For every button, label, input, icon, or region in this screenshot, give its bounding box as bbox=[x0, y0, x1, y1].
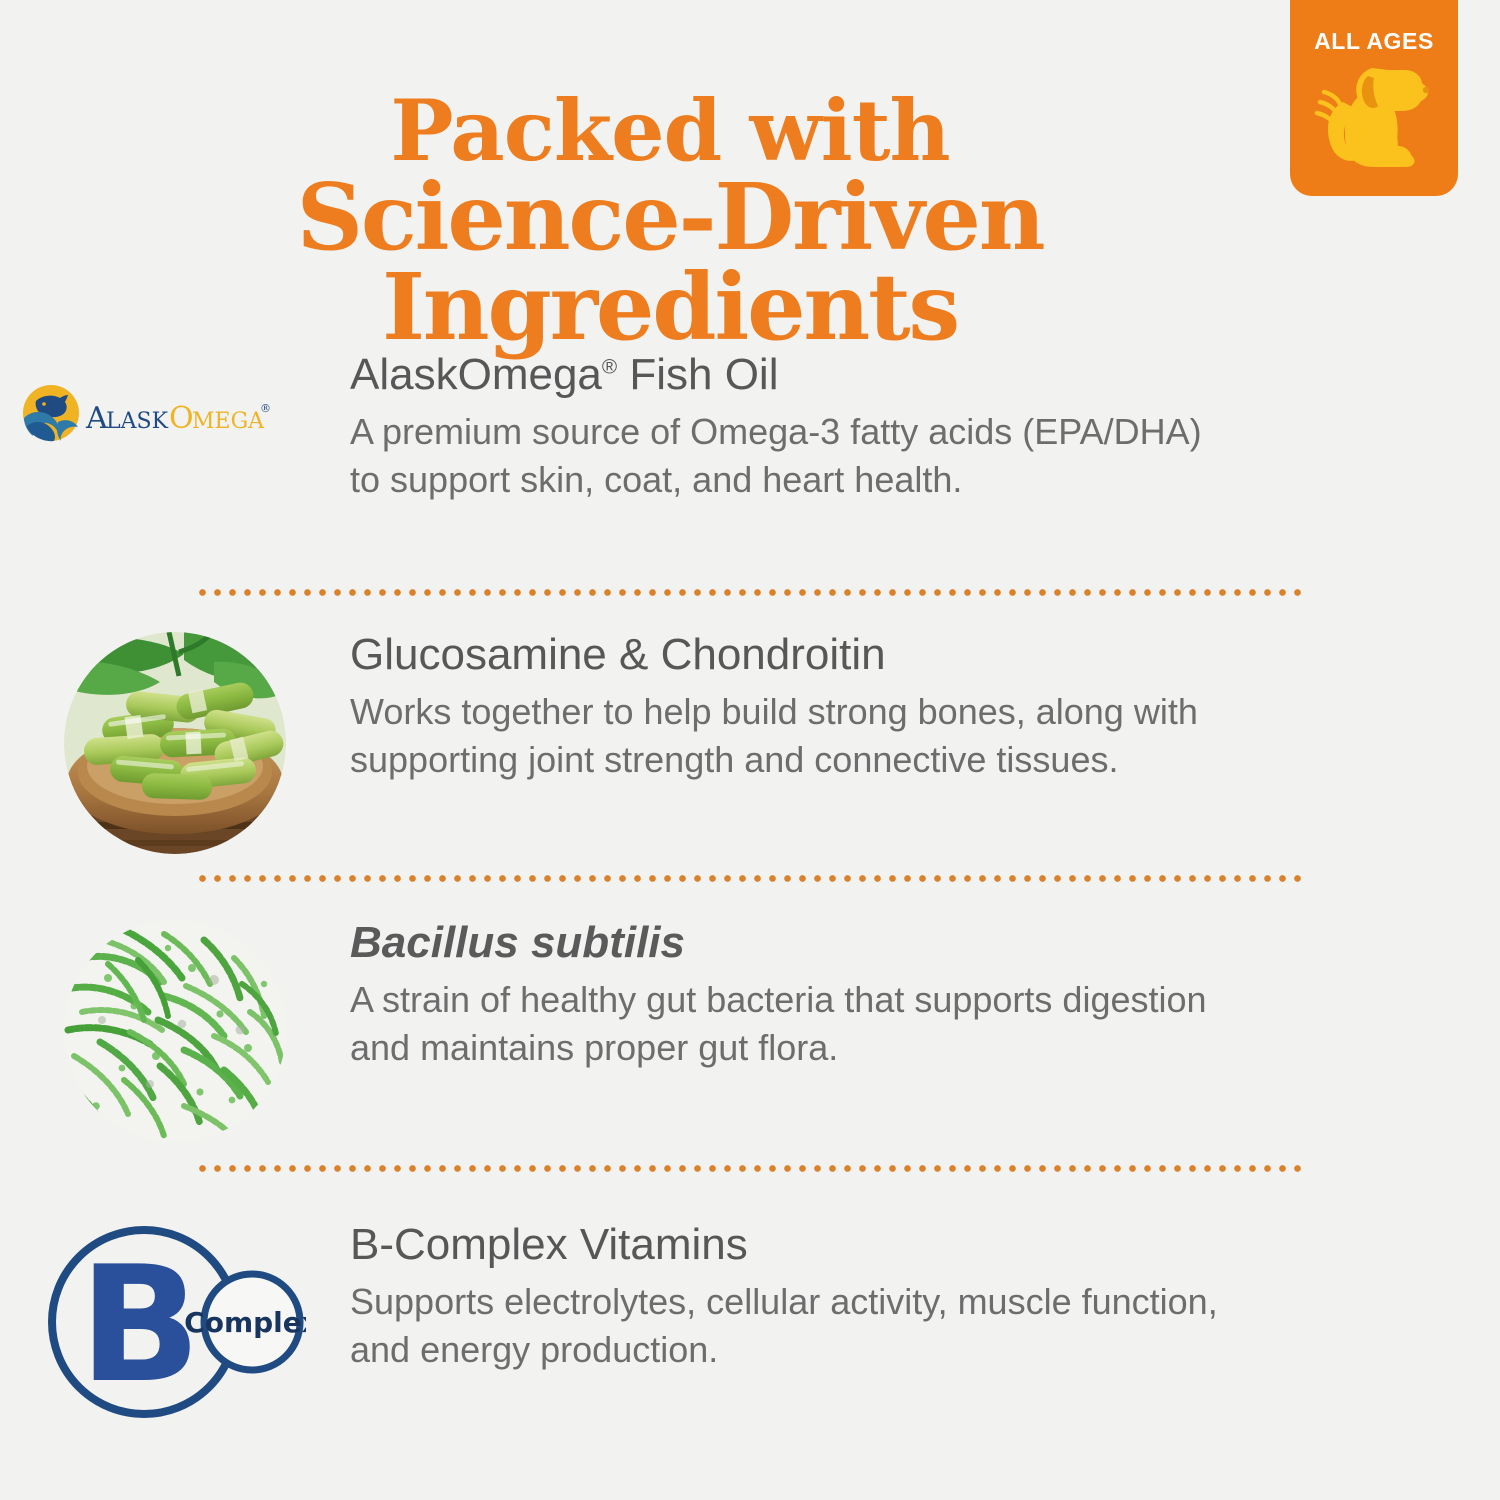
svg-text:LASK: LASK bbox=[106, 409, 169, 434]
ingredient-text-glucosamine: Glucosamine & Chondroitin Works together… bbox=[350, 632, 1500, 783]
alaskomega-logo: A LASK O MEGA ® bbox=[20, 382, 330, 444]
headline-line-1: Packed with bbox=[0, 90, 1340, 172]
svg-text:A: A bbox=[85, 401, 108, 436]
svg-text:®: ® bbox=[260, 402, 271, 415]
divider-2 bbox=[195, 874, 1307, 883]
ingredient-row-bacillus: Bacillus subtilis A strain of healthy gu… bbox=[0, 920, 1500, 1142]
all-ages-badge-label: ALL AGES bbox=[1290, 28, 1458, 55]
ingredient-row-glucosamine: Glucosamine & Chondroitin Works together… bbox=[0, 632, 1500, 854]
ingredient-title-main: AlaskOmega bbox=[350, 350, 602, 399]
svg-text:O: O bbox=[169, 401, 194, 436]
headline-line-2: Science-Driven Ingredients bbox=[0, 172, 1340, 352]
ingredient-description-bacillus: A strain of healthy gut bacteria that su… bbox=[350, 976, 1230, 1071]
ingredient-media-glucosamine bbox=[0, 632, 350, 854]
ingredient-media-fish-oil: A LASK O MEGA ® bbox=[0, 352, 350, 444]
ingredient-title-bacillus: Bacillus subtilis bbox=[350, 920, 1230, 966]
ingredient-title-suffix: Fish Oil bbox=[617, 350, 778, 399]
ingredient-description-b-complex: Supports electrolytes, cellular activity… bbox=[350, 1278, 1230, 1373]
ingredient-text-fish-oil: AlaskOmega® Fish Oil A premium source of… bbox=[350, 352, 1500, 503]
registered-trademark-icon: ® bbox=[602, 355, 617, 378]
page-title: Packed with Science-Driven Ingredients bbox=[0, 90, 1340, 353]
b-complex-letter: B bbox=[79, 1231, 201, 1418]
ingredient-description-fish-oil: A premium source of Omega-3 fatty acids … bbox=[350, 408, 1230, 503]
divider-3 bbox=[195, 1164, 1307, 1173]
ingredient-row-fish-oil: A LASK O MEGA ® AlaskOmega® Fish Oil A p… bbox=[0, 352, 1500, 503]
bacillus-microscopy-photo bbox=[64, 920, 286, 1142]
b-complex-caption: Complex bbox=[184, 1306, 306, 1339]
ingredient-text-bacillus: Bacillus subtilis A strain of healthy gu… bbox=[350, 920, 1500, 1071]
ingredient-media-bacillus bbox=[0, 920, 350, 1142]
ingredient-description-glucosamine: Works together to help build strong bone… bbox=[350, 688, 1230, 783]
ingredient-row-b-complex: B Complex B-Complex Vitamins Supports el… bbox=[0, 1222, 1500, 1422]
b-complex-logo: B Complex bbox=[44, 1222, 306, 1422]
ingredient-title-glucosamine: Glucosamine & Chondroitin bbox=[350, 632, 1230, 678]
ingredient-title-fish-oil: AlaskOmega® Fish Oil bbox=[350, 352, 1230, 398]
green-capsules-photo bbox=[64, 632, 286, 854]
ingredient-title-b-complex: B-Complex Vitamins bbox=[350, 1222, 1230, 1268]
svg-text:MEGA: MEGA bbox=[192, 409, 265, 434]
divider-1 bbox=[195, 588, 1307, 597]
ingredient-media-b-complex: B Complex bbox=[0, 1222, 350, 1422]
ingredient-text-b-complex: B-Complex Vitamins Supports electrolytes… bbox=[350, 1222, 1500, 1373]
